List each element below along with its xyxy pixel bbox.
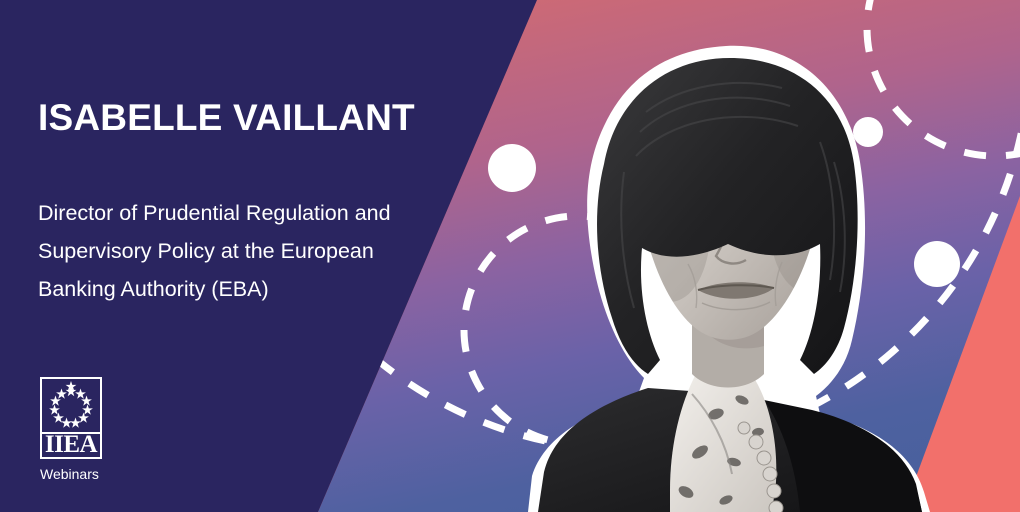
speaker-text-block: ISABELLE VAILLANT Director of Prudential…	[38, 96, 438, 308]
logo-caption: Webinars	[40, 466, 102, 482]
speaker-portrait	[520, 22, 940, 512]
logo-box: IIEA	[40, 377, 102, 459]
speaker-banner: ISABELLE VAILLANT Director of Prudential…	[0, 0, 1020, 512]
iiea-webinars-logo[interactable]: IIEA Webinars	[40, 377, 102, 482]
logo-wordmark: IIEA	[42, 433, 100, 457]
speaker-name: ISABELLE VAILLANT	[38, 96, 438, 140]
eu-stars-circle-icon	[42, 379, 100, 432]
speaker-title: Director of Prudential Regulation and Su…	[38, 194, 398, 308]
